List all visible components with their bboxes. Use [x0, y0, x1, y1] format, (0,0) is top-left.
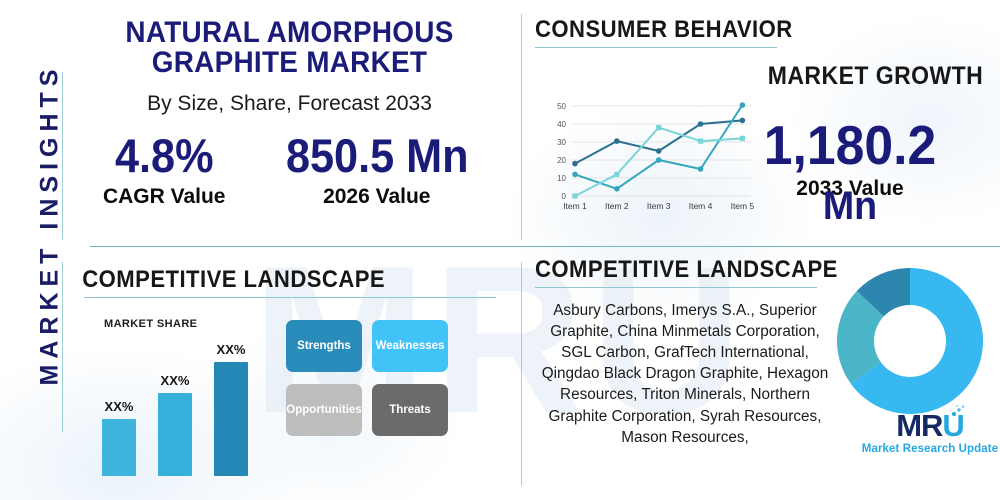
market-share-bar [214, 362, 248, 476]
infographic-canvas: MRU MARKET INSIGHTS NATURAL AMORPHOUS GR… [0, 0, 1000, 500]
swot-box-weaknesses[interactable]: Weaknesses [372, 320, 448, 372]
market-growth-heading: MARKET GROWTH [767, 62, 983, 91]
page-subtitle: By Size, Share, Forecast 2033 [62, 92, 517, 116]
swot-box-threats[interactable]: Threats [372, 384, 448, 436]
x-tick-label: Item 3 [647, 201, 671, 211]
line-data-point [614, 186, 620, 192]
consumer-behavior-panel: CONSUMER BEHAVIOR MARKET GROWTH 01020304… [535, 18, 983, 240]
kpi-cagr-label: CAGR Value [103, 185, 226, 209]
market-share-donut-chart [835, 266, 985, 421]
y-tick-label: 50 [557, 102, 566, 111]
mru-logo: MRU Market Research Update [860, 410, 1000, 455]
consumer-behavior-heading: CONSUMER BEHAVIOR [535, 18, 947, 42]
market-share-bar [102, 419, 136, 476]
logo-mark-main: MR [896, 408, 942, 443]
line-data-point [572, 172, 578, 178]
line-data-point [698, 139, 703, 144]
line-data-point [614, 138, 620, 144]
line-series-path [575, 105, 742, 189]
line-chart-series [572, 102, 745, 198]
market-share-bar-label: XX% [105, 399, 134, 414]
y-tick-label: 10 [557, 174, 566, 183]
line-data-point [698, 166, 704, 172]
swot-box-strengths[interactable]: Strengths [286, 320, 362, 372]
center-divider-bottom [521, 262, 522, 486]
kpi-2026: 850.5 Mn 2026 Value [278, 132, 477, 209]
logo-wordmark: MRU [896, 410, 964, 441]
kpi-row: 4.8% CAGR Value 850.5 Mn 2026 Value [62, 132, 517, 209]
consumer-behavior-underline [535, 47, 777, 48]
y-tick-label: 30 [557, 138, 566, 147]
kpi-2026-label: 2026 Value [278, 185, 477, 209]
line-data-point [572, 161, 578, 167]
market-share-label: MARKET SHARE [104, 318, 197, 330]
y-tick-label: 0 [562, 192, 567, 201]
x-tick-label: Item 4 [689, 201, 713, 211]
line-chart-x-ticks: Item 1Item 2Item 3Item 4Item 5 [563, 201, 754, 211]
competitive-landscape-right-panel: COMPETITIVE LANDSCAPE Asbury Carbons, Im… [535, 258, 1000, 498]
center-divider-top [521, 14, 522, 240]
kpi-cagr-value: 4.8% [108, 132, 221, 179]
consumer-behavior-line-chart: 01020304050 Item 1Item 2Item 3Item 4Item… [545, 100, 757, 218]
line-data-point [572, 193, 577, 198]
market-growth-value: 1,180.2 [742, 118, 958, 173]
y-tick-label: 40 [557, 120, 566, 129]
competitive-landscape-left-heading: COMPETITIVE LANDSCAPE [62, 258, 481, 292]
logo-tagline: Market Research Update [860, 443, 1000, 455]
line-data-point [698, 121, 704, 127]
competitive-landscape-left-panel: COMPETITIVE LANDSCAPE MARKET SHARE XX%XX… [62, 258, 517, 494]
x-tick-label: Item 1 [563, 201, 587, 211]
donut-chart-svg [835, 266, 985, 416]
line-chart-y-ticks: 01020304050 [557, 102, 566, 201]
page-title: NATURAL AMORPHOUS GRAPHITE MARKET [78, 8, 501, 78]
market-share-bar-label: XX% [217, 342, 246, 357]
competitive-landscape-right-underline [535, 287, 817, 288]
line-data-point [656, 125, 661, 130]
donut-hole [874, 305, 946, 377]
y-tick-label: 20 [557, 156, 566, 165]
market-share-bar-column: XX% [102, 399, 136, 476]
line-data-point [740, 102, 746, 108]
market-share-bar-column: XX% [214, 342, 248, 476]
line-data-point [656, 148, 662, 154]
swot-box-opportunities[interactable]: Opportunities [286, 384, 362, 436]
line-data-point [656, 157, 662, 163]
market-insights-rail-label: MARKET INSIGHTS [36, 15, 65, 435]
logo-droplets-icon [949, 403, 967, 419]
x-tick-label: Item 2 [605, 201, 629, 211]
line-data-point [614, 172, 619, 177]
company-list: Asbury Carbons, Imerys S.A., Superior Gr… [535, 300, 835, 448]
kpi-2026-value: 850.5 Mn [285, 132, 468, 179]
line-chart-svg: 01020304050 Item 1Item 2Item 3Item 4Item… [545, 100, 757, 218]
header-panel: NATURAL AMORPHOUS GRAPHITE MARKET By Siz… [62, 8, 517, 240]
market-share-bar [158, 393, 192, 476]
section-divider-horizontal [90, 246, 1000, 247]
kpi-cagr: 4.8% CAGR Value [103, 132, 226, 209]
market-share-bar-column: XX% [158, 373, 192, 476]
competitive-landscape-left-underline [84, 297, 496, 298]
market-growth-value-block: 1,180.2 2033 Value Mn [735, 118, 965, 223]
swot-grid: StrengthsWeaknessesOpportunitiesThreats [286, 320, 448, 436]
market-share-bar-chart: XX%XX%XX% [102, 336, 287, 476]
market-growth-unit: Mn [742, 189, 958, 223]
market-share-bar-label: XX% [161, 373, 190, 388]
